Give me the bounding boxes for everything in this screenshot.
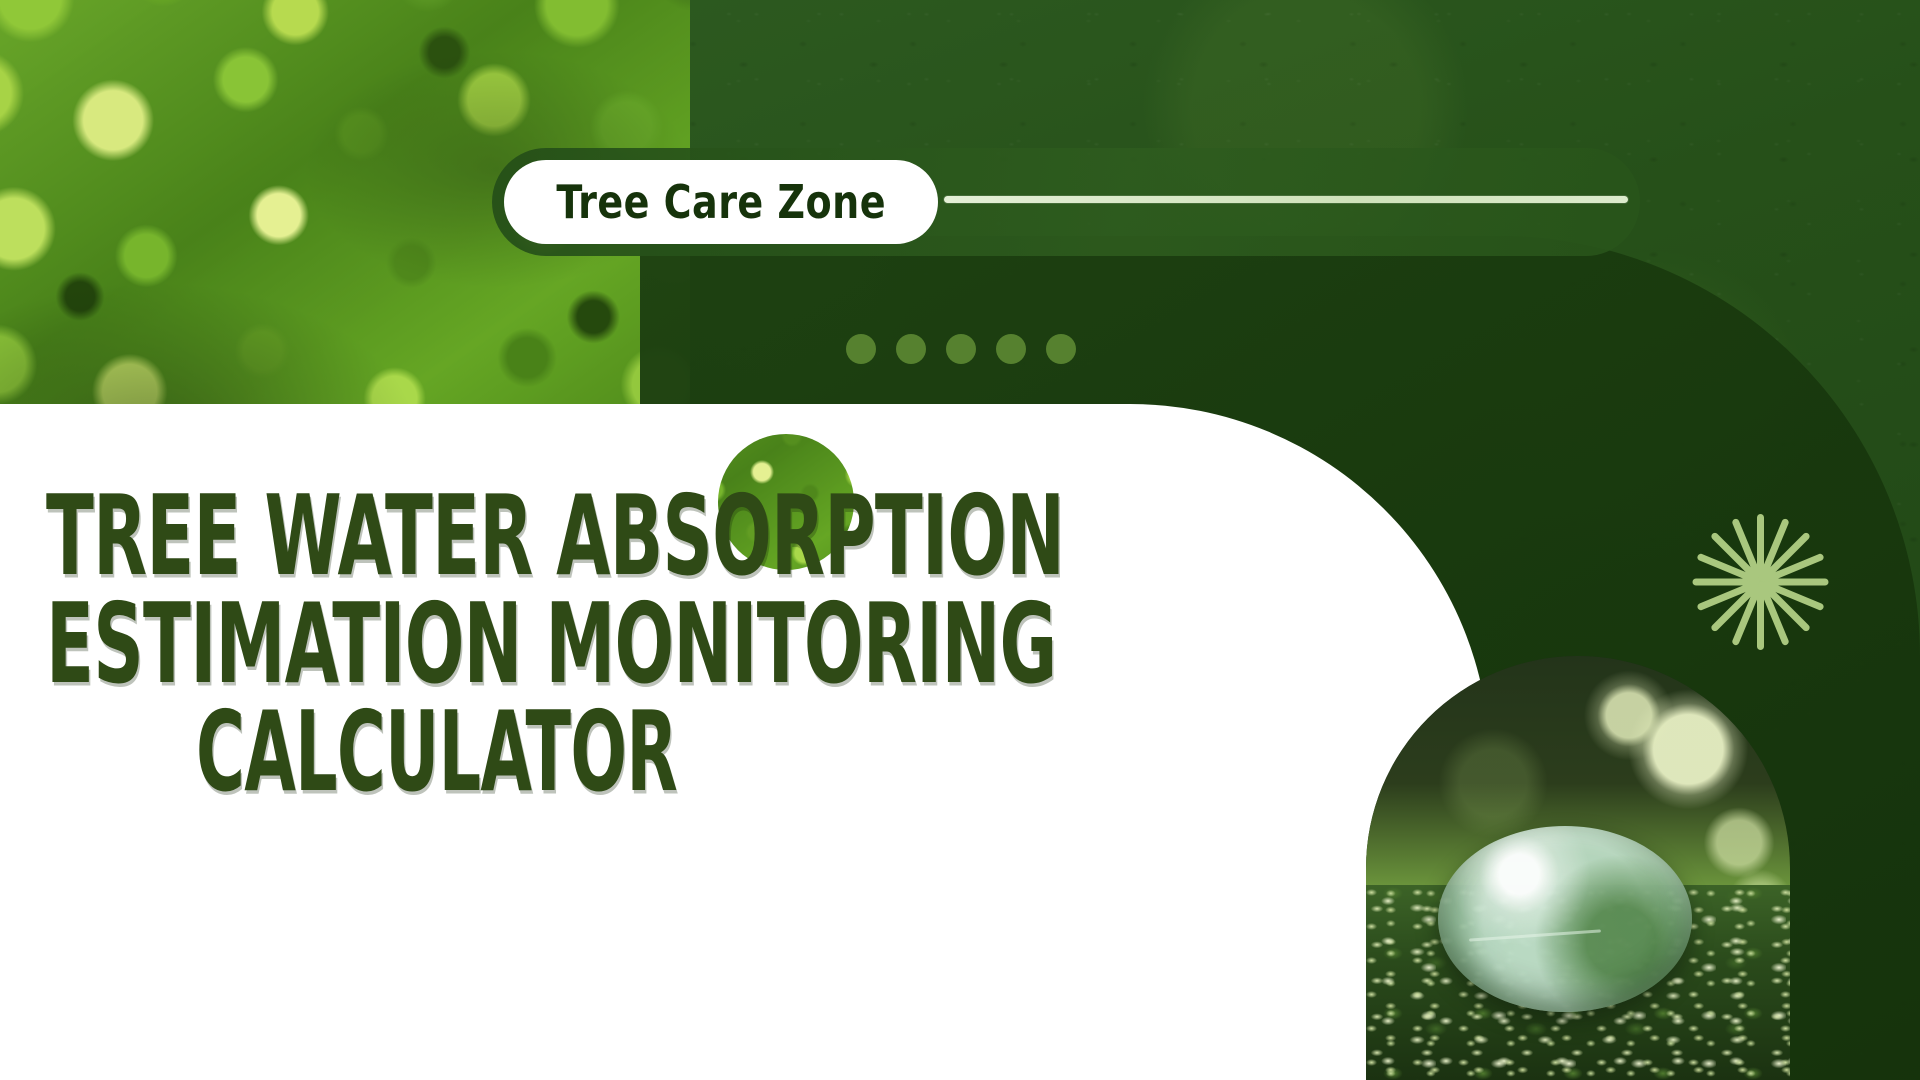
brand-badge-label: Tree Care Zone — [556, 175, 886, 229]
dot-icon — [946, 334, 976, 364]
glass-sphere-icon — [1438, 826, 1692, 1013]
page-title: TREE WATER ABSORPTION ESTIMATION MONITOR… — [46, 486, 1106, 804]
header-divider-line — [944, 196, 1628, 203]
decorative-dots-group — [846, 334, 1076, 364]
page-title-line-2: ESTIMATION MONITORING — [46, 591, 1056, 699]
page-title-line-1: TREE WATER ABSORPTION — [46, 483, 1064, 591]
arch-photo-scene — [1366, 656, 1790, 1080]
dot-icon — [896, 334, 926, 364]
brand-badge[interactable]: Tree Care Zone — [504, 160, 938, 244]
water-droplet-arch-photo — [1366, 656, 1790, 1080]
dot-icon — [1046, 334, 1076, 364]
dot-icon — [996, 334, 1026, 364]
starburst-icon — [1690, 512, 1830, 652]
dot-icon — [846, 334, 876, 364]
page-title-line-3: CALCULATOR — [196, 699, 677, 807]
poster-canvas: Tree Care Zone TREE WATER ABSORPTION EST… — [0, 0, 1920, 1080]
